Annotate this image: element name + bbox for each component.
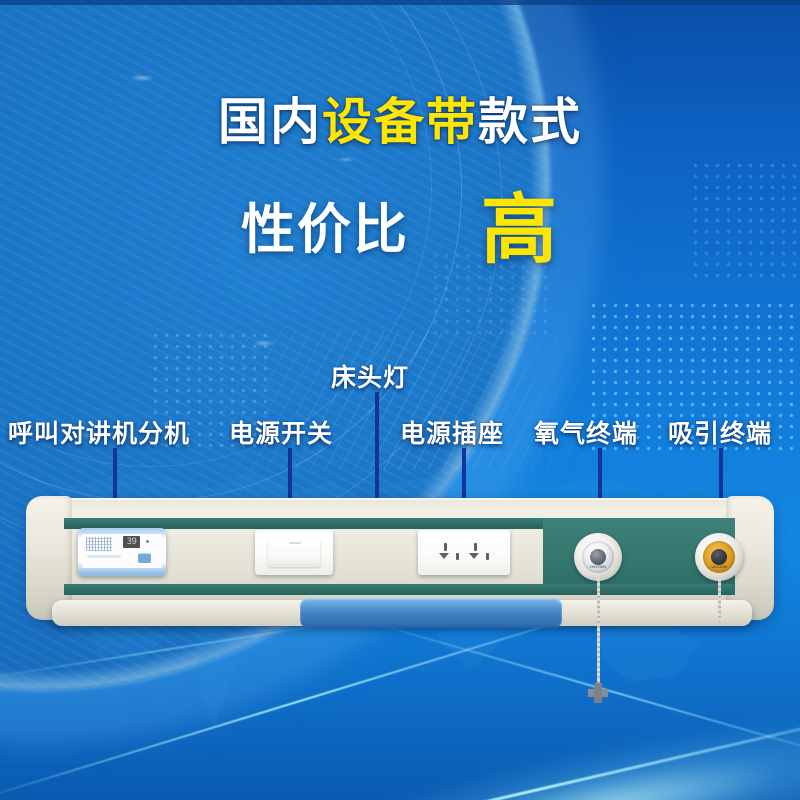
status-led-icon xyxy=(146,540,149,543)
promo-banner: 国内设备带款式 性价比高 呼叫对讲机分机 电源开关 床头灯 电源插座 氧气终端 … xyxy=(0,0,800,800)
oxygen-terminal-outlet[interactable]: OXYGEN xyxy=(574,533,622,581)
socket-pin-right-a xyxy=(474,543,477,551)
oxygen-port-core xyxy=(590,549,606,565)
bed-lamp-diffuser xyxy=(300,598,562,628)
speaker-grille-icon xyxy=(86,537,112,551)
oxygen-pull-cord[interactable] xyxy=(597,578,600,688)
panel-stripe-bottom xyxy=(64,584,732,595)
socket-pin-left-a xyxy=(444,543,447,551)
top-edge-bar xyxy=(0,0,800,5)
callout-label-suction: 吸引终端 xyxy=(668,414,772,450)
callout-label-bed-lamp: 床头灯 xyxy=(331,358,409,394)
callout-label-oxygen: 氧气终端 xyxy=(534,414,638,450)
switch-indicator-mark xyxy=(289,542,301,544)
subline-white-text: 性价比 xyxy=(241,200,409,260)
power-switch-unit[interactable] xyxy=(255,530,333,575)
callout-label-power-socket: 电源插座 xyxy=(400,414,504,450)
socket-pin-left-b xyxy=(439,553,449,559)
socket-pin-right-b xyxy=(469,553,479,559)
socket-pin-right-c xyxy=(486,553,489,560)
nurse-call-intercom-unit[interactable]: 39 xyxy=(78,528,166,576)
suction-terminal-outlet[interactable]: VACUUM xyxy=(695,533,743,581)
oxygen-marking-text: OXYGEN xyxy=(590,564,606,569)
pull-cord-handle[interactable] xyxy=(588,683,608,703)
headline-part2: 款式 xyxy=(478,94,582,150)
power-socket-unit[interactable] xyxy=(418,530,510,575)
suction-marking-text: VACUUM xyxy=(711,564,727,569)
intercom-mic-slot xyxy=(87,555,121,558)
headline-highlight: 设备带 xyxy=(322,94,478,150)
headline-secondary: 性价比高 xyxy=(0,160,800,270)
subline-yellow-text: 高 xyxy=(481,188,559,273)
callout-label-intercom: 呼叫对讲机分机 xyxy=(8,414,190,450)
intercom-display: 39 xyxy=(123,536,140,548)
socket-pin-left-c xyxy=(456,553,459,560)
callout-label-power-switch: 电源开关 xyxy=(229,414,333,450)
headline-part1: 国内 xyxy=(218,94,322,150)
suction-port-core xyxy=(711,549,727,565)
suction-pull-cord[interactable] xyxy=(718,578,721,622)
headline-primary: 国内设备带款式 xyxy=(0,82,800,154)
intercom-call-button[interactable] xyxy=(138,553,151,563)
